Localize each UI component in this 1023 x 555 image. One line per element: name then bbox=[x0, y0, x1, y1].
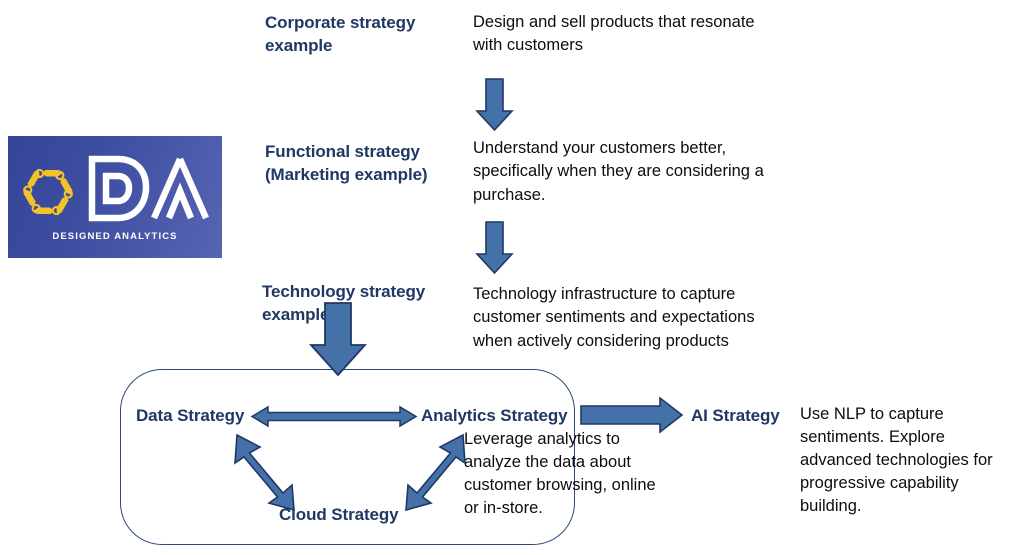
down-arrow-icon-functional-to-technology bbox=[477, 222, 512, 273]
ai-note-line3: advanced technologies for bbox=[800, 449, 1015, 472]
analytics-note-line4: or in-store. bbox=[464, 497, 679, 520]
functional-strategy-label-line1: Functional strategy bbox=[265, 141, 465, 164]
corporate-description-line1: Design and sell products that resonate bbox=[473, 11, 803, 34]
ai-note-line2: sentiments. Explore bbox=[800, 426, 1015, 449]
functional-strategy-description: Understand your customers better, specif… bbox=[473, 137, 818, 207]
node-label-data-strategy[interactable]: Data Strategy bbox=[136, 405, 244, 428]
technology-description-line3: when actively considering products bbox=[473, 330, 823, 353]
technology-strategy-label-line1: Technology strategy bbox=[262, 281, 462, 304]
ai-note-line5: building. bbox=[800, 495, 1015, 518]
node-label-analytics-strategy[interactable]: Analytics Strategy bbox=[421, 405, 568, 428]
right-arrow-icon-analytics-to-ai bbox=[581, 398, 682, 432]
corporate-strategy-label: Corporate strategy example bbox=[265, 12, 455, 58]
functional-description-line1: Understand your customers better, bbox=[473, 137, 818, 160]
functional-description-line3: purchase. bbox=[473, 184, 818, 207]
functional-strategy-label-line2: (Marketing example) bbox=[265, 164, 465, 187]
logo-subtitle: DESIGNED ANALYTICS bbox=[8, 231, 222, 242]
da-monogram-icon bbox=[84, 150, 212, 228]
down-arrow-icon-corporate-to-functional bbox=[477, 79, 512, 130]
slide-canvas: DESIGNED ANALYTICS Corporate strategy ex… bbox=[0, 0, 1023, 555]
analytics-note-line2: analyze the data about bbox=[464, 451, 679, 474]
designed-analytics-logo: DESIGNED ANALYTICS bbox=[8, 136, 222, 258]
corporate-strategy-label-line2: example bbox=[265, 35, 455, 58]
technology-strategy-description: Technology infrastructure to capture cus… bbox=[473, 283, 823, 353]
circular-network-icon bbox=[16, 158, 80, 226]
analytics-note-line3: customer browsing, online bbox=[464, 474, 679, 497]
node-label-ai-strategy[interactable]: AI Strategy bbox=[691, 405, 780, 428]
node-label-cloud-strategy[interactable]: Cloud Strategy bbox=[279, 504, 399, 527]
corporate-strategy-description: Design and sell products that resonate w… bbox=[473, 11, 803, 58]
technology-description-line1: Technology infrastructure to capture bbox=[473, 283, 823, 306]
functional-strategy-label: Functional strategy (Marketing example) bbox=[265, 141, 465, 187]
technology-strategy-label: Technology strategy example bbox=[262, 281, 462, 327]
corporate-description-line2: with customers bbox=[473, 34, 803, 57]
functional-description-line2: specifically when they are considering a bbox=[473, 160, 818, 183]
ai-note-line1: Use NLP to capture bbox=[800, 403, 1015, 426]
ai-note-line4: progressive capability bbox=[800, 472, 1015, 495]
ai-strategy-note: Use NLP to capture sentiments. Explore a… bbox=[800, 403, 1015, 518]
corporate-strategy-label-line1: Corporate strategy bbox=[265, 12, 455, 35]
technology-strategy-label-line2: example bbox=[262, 304, 462, 327]
technology-description-line2: customer sentiments and expectations bbox=[473, 306, 823, 329]
analytics-note-line1: Leverage analytics to bbox=[464, 428, 679, 451]
analytics-strategy-note: Leverage analytics to analyze the data a… bbox=[464, 428, 679, 520]
